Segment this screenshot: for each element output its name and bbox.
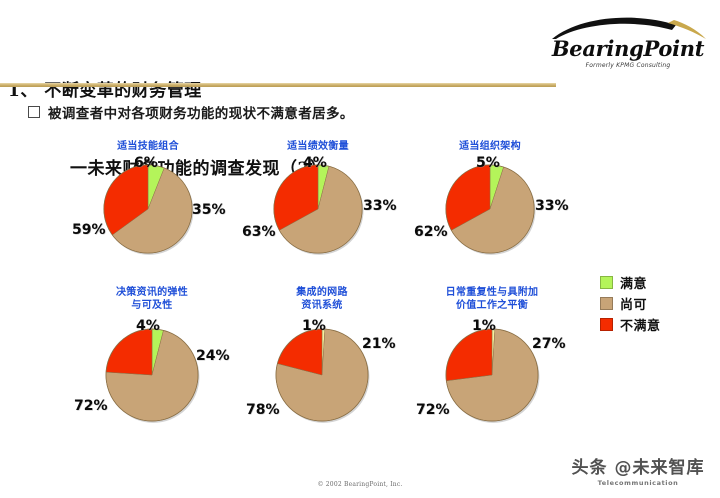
watermark-sub-text: Telecommunication bbox=[562, 479, 714, 487]
pie-chart-4-label-neutral: 78% bbox=[246, 402, 280, 418]
square-outline-icon bbox=[28, 106, 40, 118]
watermark: 头条 @未来智库 Telecommunication bbox=[562, 458, 714, 487]
pie-chart-2-label-satisfied: 5% bbox=[476, 155, 500, 171]
pie-chart-4: 集成的网路 资讯系统 1% 78% 21% bbox=[250, 286, 394, 436]
pie-chart-2-label-dissatisfied: 33% bbox=[535, 198, 569, 214]
pie-chart-5-title-line-1: 日常重复性与具附加 bbox=[446, 287, 539, 298]
legend-item-neutral: 尚可 bbox=[600, 293, 712, 314]
pie-chart-5-label-satisfied: 1% bbox=[472, 318, 496, 334]
legend-item-satisfied: 满意 bbox=[600, 272, 712, 293]
pie-slice-不满意 bbox=[446, 329, 492, 381]
legend: 满意 尚可 不满意 bbox=[600, 272, 712, 335]
pie-chart-0-title: 适当技能组合 bbox=[78, 140, 218, 153]
watermark-main-text: 头条 @未来智库 bbox=[562, 458, 714, 478]
pie-chart-3-label-satisfied: 4% bbox=[136, 318, 160, 334]
pie-chart-0-label-dissatisfied: 35% bbox=[192, 202, 226, 218]
legend-item-dissatisfied: 不满意 bbox=[600, 314, 712, 335]
pie-chart-5-title: 日常重复性与具附加 价值工作之平衡 bbox=[404, 286, 580, 312]
pie-chart-5-label-dissatisfied: 27% bbox=[532, 336, 566, 352]
header-divider bbox=[0, 83, 556, 87]
logo-tagline: Formerly KPMG Consulting bbox=[544, 62, 712, 69]
pie-chart-4-graphic bbox=[273, 326, 371, 424]
pie-chart-2-graphic bbox=[443, 162, 537, 256]
pie-chart-4-label-dissatisfied: 21% bbox=[362, 336, 396, 352]
pie-chart-3-label-dissatisfied: 24% bbox=[196, 348, 230, 364]
pie-chart-5: 日常重复性与具附加 价值工作之平衡 1% 72% 27% bbox=[404, 286, 580, 436]
legend-swatch-dissatisfied bbox=[600, 318, 613, 331]
pie-chart-4-label-satisfied: 1% bbox=[302, 318, 326, 334]
logo-wordmark: BearingPoint bbox=[544, 36, 712, 61]
pie-chart-3-graphic bbox=[103, 326, 201, 424]
pie-chart-2-title: 适当组织架构 bbox=[420, 140, 560, 153]
pie-chart-0-label-neutral: 59% bbox=[72, 222, 106, 238]
pie-chart-5-graphic bbox=[443, 326, 541, 424]
pie-chart-2: 适当组织架构 5% 62% 33% bbox=[420, 140, 560, 260]
legend-label-neutral: 尚可 bbox=[620, 294, 647, 313]
bearingpoint-logo: BearingPoint Formerly KPMG Consulting bbox=[544, 14, 712, 76]
pie-chart-1-label-neutral: 63% bbox=[242, 224, 276, 240]
pie-chart-3-label-neutral: 72% bbox=[74, 398, 108, 414]
pie-chart-0: 适当技能组合 6% 59% 35% bbox=[78, 140, 218, 260]
pie-chart-4-title: 集成的网路 资讯系统 bbox=[250, 286, 394, 312]
pie-chart-1: 适当绩效衡量 4% 63% 33% bbox=[248, 140, 388, 260]
bullet-text: 被调查者中对各项财务功能的现状不满意者居多。 bbox=[48, 102, 354, 122]
legend-swatch-neutral bbox=[600, 297, 613, 310]
legend-label-satisfied: 满意 bbox=[620, 273, 647, 292]
page-title-line-1: 1、 不断变革的财务管理 bbox=[8, 78, 568, 104]
pie-chart-3-title-line-1: 决策资讯的弹性 bbox=[116, 287, 188, 298]
pie-chart-0-graphic bbox=[101, 162, 195, 256]
pie-chart-5-title-line-2: 价值工作之平衡 bbox=[456, 300, 528, 311]
pie-chart-2-label-neutral: 62% bbox=[414, 224, 448, 240]
bullet-point: 被调查者中对各项财务功能的现状不满意者居多。 bbox=[28, 102, 354, 122]
pie-chart-1-graphic bbox=[271, 162, 365, 256]
pie-slice-不满意 bbox=[106, 329, 152, 375]
pie-chart-0-label-satisfied: 6% bbox=[134, 155, 158, 171]
pie-chart-1-title: 适当绩效衡量 bbox=[248, 140, 388, 153]
pie-chart-4-title-line-2: 资讯系统 bbox=[301, 300, 342, 311]
legend-label-dissatisfied: 不满意 bbox=[620, 315, 661, 334]
legend-swatch-satisfied bbox=[600, 276, 613, 289]
pie-chart-3-title-line-2: 与可及性 bbox=[131, 300, 172, 311]
pie-chart-5-label-neutral: 72% bbox=[416, 402, 450, 418]
pie-chart-4-title-line-1: 集成的网路 bbox=[296, 287, 348, 298]
pie-chart-1-label-dissatisfied: 33% bbox=[363, 198, 397, 214]
pie-chart-1-label-satisfied: 4% bbox=[303, 155, 327, 171]
pie-chart-3: 决策资讯的弹性 与可及性 4% 72% 24% bbox=[80, 286, 224, 436]
pie-chart-3-title: 决策资讯的弹性 与可及性 bbox=[80, 286, 224, 312]
